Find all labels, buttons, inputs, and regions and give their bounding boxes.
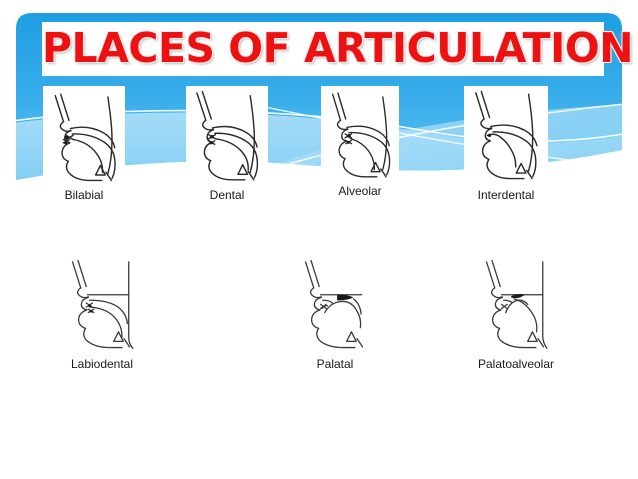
articulation-label-labiodental: Labiodental [22, 357, 182, 371]
articulation-item-palatal[interactable]: Palatal [268, 255, 402, 371]
articulation-label-palatal: Palatal [268, 357, 402, 371]
page-title: PLACES OF ARTICULATION [42, 22, 604, 76]
closure-marker-interdental [488, 134, 491, 137]
vocal-tract-sagittal-diagram [43, 86, 125, 182]
vocal-tract-sagittal-diagram [289, 255, 381, 351]
articulation-item-dental[interactable]: Dental [165, 86, 289, 202]
articulation-label-bilabial: Bilabial [22, 188, 146, 202]
articulation-label-palatoalveolar: Palatoalveolar [442, 357, 590, 371]
vocal-tract-sagittal-diagram [321, 86, 399, 178]
articulation-item-interdental[interactable]: Interdental [442, 86, 570, 202]
articulation-item-bilabial[interactable]: Bilabial [22, 86, 146, 202]
articulation-row-bottom: Labiodental [0, 255, 638, 385]
articulation-label-interdental: Interdental [442, 188, 570, 202]
articulation-label-alveolar: Alveolar [298, 184, 422, 198]
articulation-row-top: Bilabial [0, 86, 638, 211]
vocal-tract-sagittal-diagram [470, 255, 562, 351]
articulation-item-palatoalveolar[interactable]: Palatoalveolar [442, 255, 590, 371]
vocal-tract-sagittal-diagram [186, 86, 268, 182]
closure-marker-lip-teeth [88, 304, 92, 312]
articulation-item-labiodental[interactable]: Labiodental [22, 255, 182, 371]
contact-band-palatal [337, 295, 353, 301]
vocal-tract-sagittal-diagram [56, 255, 148, 351]
slide-canvas: PLACES OF ARTICULATION [0, 0, 638, 479]
articulation-label-dental: Dental [165, 188, 289, 202]
title-box: PLACES OF ARTICULATION [42, 22, 604, 76]
vocal-tract-sagittal-diagram [464, 86, 548, 182]
articulation-item-alveolar[interactable]: Alveolar [298, 86, 422, 198]
